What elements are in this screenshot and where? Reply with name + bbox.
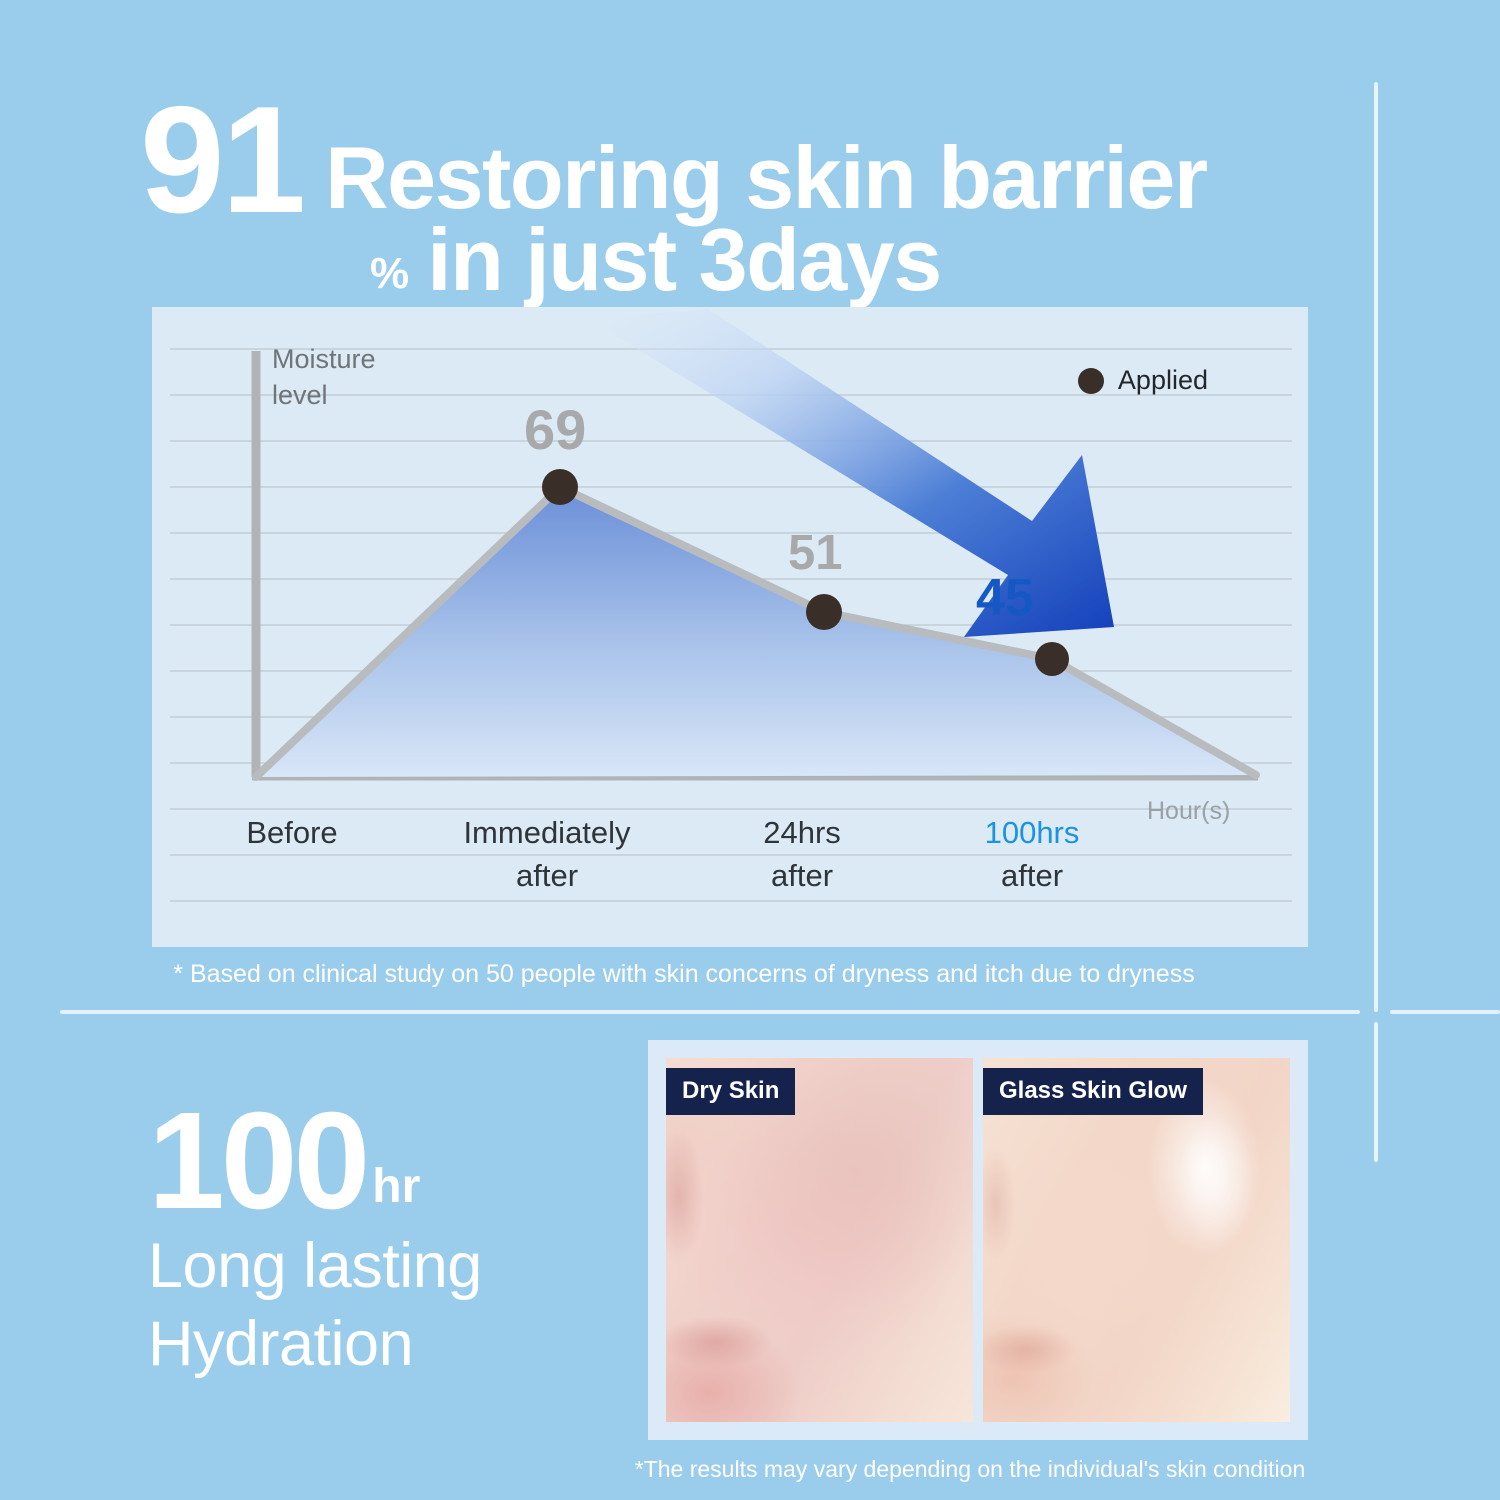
skin-comparison-grid: Dry Skin Glass Skin Glow <box>666 1058 1290 1422</box>
x-axis-label-immediately: Immediately after <box>402 812 692 898</box>
x-axis-label-immediately-top: Immediately <box>402 812 692 855</box>
vertical-divider-bottom <box>1374 1022 1378 1162</box>
dry-skin-tag: Dry Skin <box>666 1068 795 1115</box>
moisture-chart-panel: Moisture level Applied 69 51 45 Before I… <box>152 307 1308 947</box>
data-point-marker <box>806 594 842 630</box>
x-axis-label-24hrs: 24hrs after <box>682 812 922 898</box>
y-axis-title: Moisture level <box>272 341 376 414</box>
x-axis-label-immediately-bottom: after <box>402 855 692 898</box>
data-point-marker <box>1035 642 1069 676</box>
hydration-claim-number: 100 <box>148 1098 366 1225</box>
hydration-claim-line2: Hydration <box>148 1309 618 1381</box>
x-axis-label-before-top: Before <box>172 812 412 855</box>
data-label-immediately: 69 <box>524 402 586 458</box>
x-axis-label-100hrs-bottom: after <box>892 855 1172 898</box>
skin-comparison-cell-before: Dry Skin <box>666 1058 973 1422</box>
skin-comparison-panel: Dry Skin Glass Skin Glow <box>648 1040 1308 1440</box>
x-axis-label-100hrs-top: 100hrs <box>892 812 1172 855</box>
hydration-claim-unit: hr <box>366 1163 420 1225</box>
headline-block: 91 Restoring skin barrier % in just 3day… <box>140 88 1370 278</box>
hydration-claim-number-row: 100 hr <box>148 1098 618 1225</box>
horizontal-divider-left <box>60 1010 1360 1014</box>
skin-comparison-footnote: *The results may vary depending on the i… <box>600 1456 1340 1483</box>
legend-marker-icon <box>1078 368 1104 394</box>
x-axis-unit-label: Hour(s) <box>1147 797 1230 826</box>
y-axis-title-line2: level <box>272 377 376 413</box>
hydration-claim-block: 100 hr Long lasting Hydration <box>148 1098 618 1381</box>
data-label-100hrs: 45 <box>976 572 1034 624</box>
chart-footnote: * Based on clinical study on 50 people w… <box>0 960 1368 989</box>
x-axis-label-100hrs: 100hrs after <box>892 812 1172 898</box>
data-point-marker <box>542 469 578 505</box>
horizontal-divider-right <box>1390 1010 1500 1014</box>
chart-legend: Applied <box>1078 365 1208 396</box>
glass-skin-tag: Glass Skin Glow <box>983 1068 1203 1115</box>
skin-comparison-cell-after: Glass Skin Glow <box>983 1058 1290 1422</box>
headline-text-bottom: in just 3days <box>409 216 941 304</box>
data-label-24hrs: 51 <box>788 529 843 578</box>
hydration-claim-line1: Long lasting <box>148 1231 618 1303</box>
y-axis-title-line1: Moisture <box>272 341 376 377</box>
vertical-divider-top <box>1374 82 1378 1012</box>
headline-number: 91 <box>140 88 303 232</box>
x-axis-label-24hrs-bottom: after <box>682 855 922 898</box>
headline-percent-symbol: % <box>370 252 409 304</box>
legend-label: Applied <box>1118 365 1208 396</box>
x-axis-label-before: Before <box>172 812 412 855</box>
x-axis-label-24hrs-top: 24hrs <box>682 812 922 855</box>
